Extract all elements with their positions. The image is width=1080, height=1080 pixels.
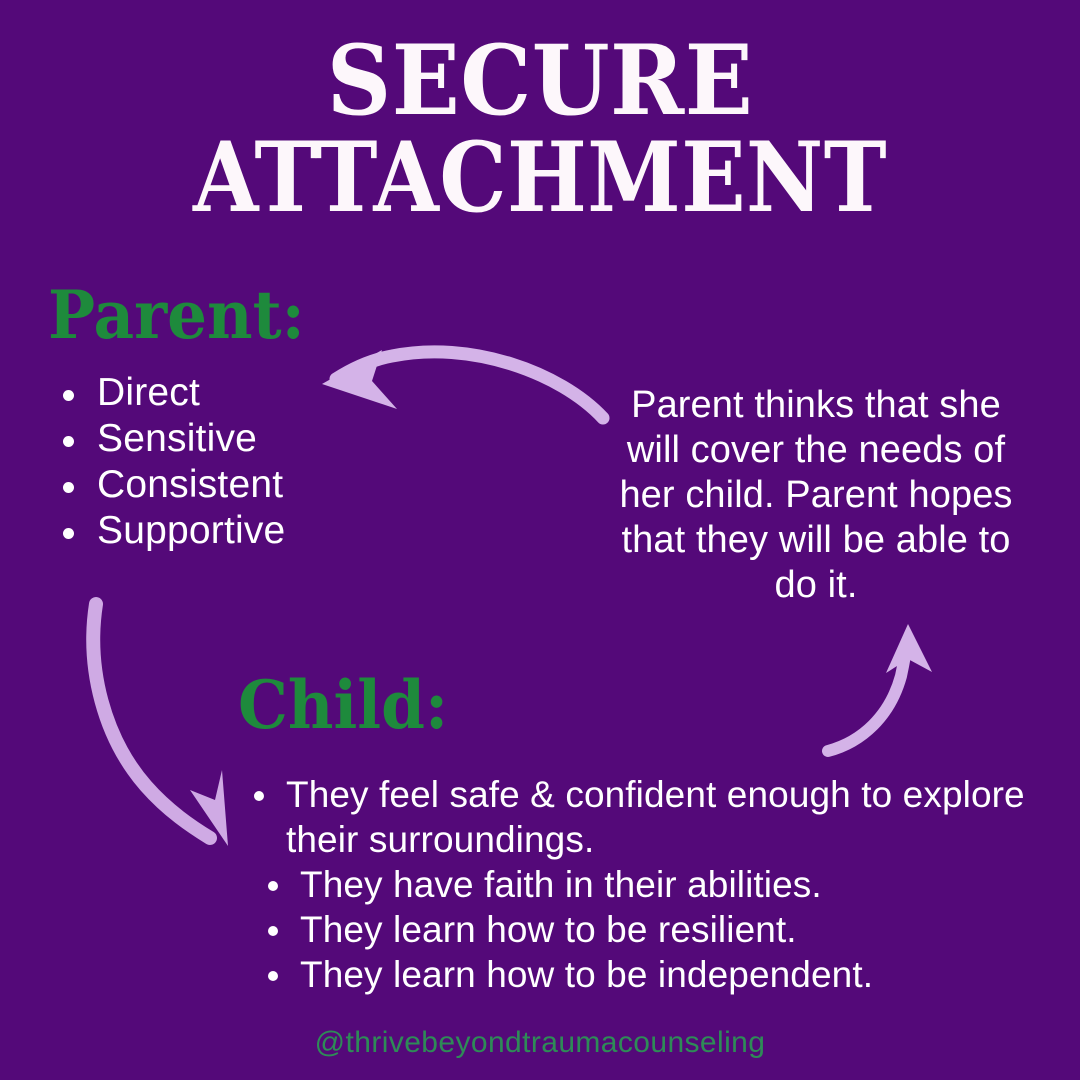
- arrow-to-child-icon: [93, 604, 228, 846]
- title-line-secure: SECURE: [38, 34, 1042, 127]
- social-handle: @thrivebeyondtraumacounseling: [0, 1026, 1080, 1060]
- arrow-to-thought-icon: [828, 624, 932, 751]
- list-item: They learn how to be resilient.: [242, 907, 1042, 952]
- parent-thought-text: Parent thinks that she will cover the ne…: [608, 383, 1024, 608]
- list-item: They feel safe & confident enough to exp…: [242, 772, 1076, 862]
- page-title: SECURE ATTACHMENT: [0, 34, 1080, 224]
- list-item: Supportive: [52, 508, 285, 554]
- parent-trait-list: Direct Sensitive Consistent Supportive: [52, 370, 285, 554]
- list-item: Direct: [52, 370, 285, 416]
- list-item: Sensitive: [52, 416, 285, 462]
- list-item: Consistent: [52, 462, 285, 508]
- list-item: They have faith in their abilities.: [242, 862, 1042, 907]
- section-heading-parent: Parent:: [48, 282, 305, 348]
- section-heading-child: Child:: [238, 672, 448, 738]
- arrow-to-parent-icon: [322, 350, 603, 418]
- list-item: They learn how to be independent.: [242, 952, 1042, 997]
- child-outcome-list: They feel safe & confident enough to exp…: [242, 772, 1042, 997]
- infographic-poster: SECURE ATTACHMENT Parent: Direct Sensiti…: [0, 0, 1080, 1080]
- title-line-attachment: ATTACHMENT: [65, 131, 1015, 224]
